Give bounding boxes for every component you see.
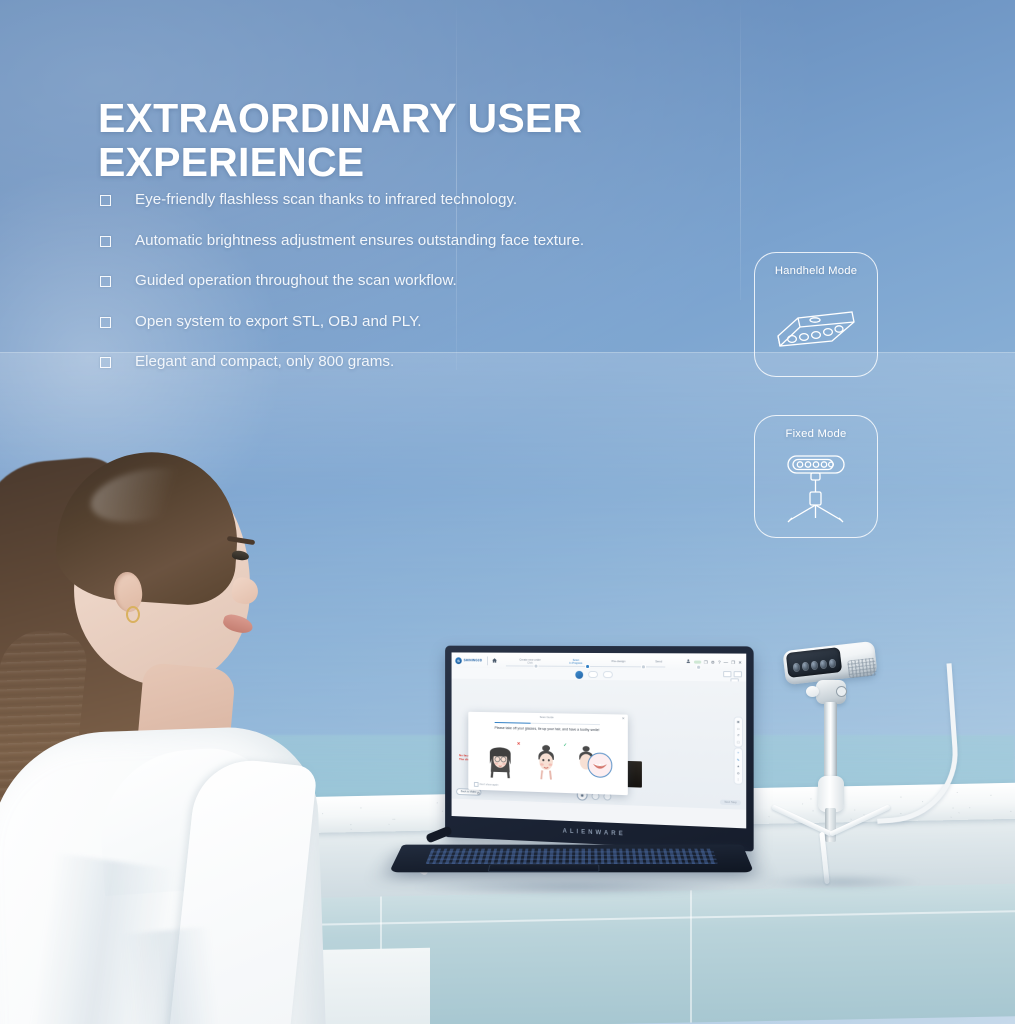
- dont-show-again-checkbox[interactable]: [474, 782, 478, 787]
- app-logo-label: SHINING3D: [464, 658, 483, 662]
- power-cable: [867, 663, 963, 824]
- list-item-label: Automatic brightness adjustment ensures …: [135, 231, 584, 252]
- laptop: S SHINING3D Create new order Click: [390, 646, 760, 906]
- list-item-label: Open system to export STL, OBJ and PLY.: [135, 312, 421, 333]
- maximize-icon[interactable]: ❐: [731, 659, 735, 664]
- step-pre-design[interactable]: Pre-design: [611, 659, 625, 663]
- mini-button[interactable]: [734, 671, 742, 677]
- laptop-lid: S SHINING3D Create new order Click: [445, 646, 754, 852]
- tripod-lock-screw[interactable]: [836, 686, 847, 697]
- feature-list: Eye-friendly flashless scan thanks to in…: [100, 190, 740, 393]
- list-item-label: Eye-friendly flashless scan thanks to in…: [135, 190, 517, 211]
- tripod-adjust-knob[interactable]: [806, 686, 819, 697]
- status-pill: [694, 660, 701, 663]
- window-controls: ❐ ⚙ ? — ❐ ✕: [685, 658, 742, 664]
- screenshot-icon[interactable]: ❐: [704, 659, 708, 664]
- face-with-glasses-illustration: [486, 742, 514, 778]
- bullet-square-icon: [100, 195, 111, 206]
- settings-tool-icon[interactable]: ⚙: [736, 771, 740, 775]
- modal-title: Scan Guide: [468, 714, 628, 721]
- rotate-tool-icon[interactable]: ↺: [736, 733, 740, 737]
- scan-application: S SHINING3D Create new order Click: [452, 652, 747, 828]
- magic-wand-icon[interactable]: ✧: [736, 751, 740, 755]
- close-icon[interactable]: ✕: [738, 659, 742, 664]
- laptop-base: [389, 845, 754, 873]
- usb-connector: [425, 825, 452, 843]
- modal-progress-active: [495, 722, 531, 724]
- gear-icon[interactable]: ⚙: [711, 659, 715, 664]
- step-label: Create new order: [519, 657, 540, 661]
- laptop-shadow: [410, 878, 740, 896]
- page-title: EXTRAORDINARY USER EXPERIENCE: [98, 96, 858, 185]
- toolbar-chip[interactable]: [603, 671, 613, 678]
- list-item: Automatic brightness adjustment ensures …: [100, 231, 740, 252]
- tripod-lower-post: [825, 808, 836, 842]
- workflow-steps: Create new order Click Scan In Progress …: [498, 657, 686, 665]
- fit-tool-icon[interactable]: ☐: [736, 740, 740, 744]
- list-item-label: Elegant and compact, only 800 grams.: [135, 352, 394, 373]
- tripod-shadow: [762, 874, 922, 890]
- dental-professional-photo: [0, 430, 340, 1024]
- settings-gear-icon[interactable]: ⚙: [477, 791, 480, 796]
- scanner-vent-grille: [847, 657, 877, 678]
- guide-panel-tied-hair: ✓: [524, 740, 568, 783]
- mode-card-fixed: Fixed Mode: [754, 415, 878, 538]
- toothy-smile-zoom-illustration: [574, 745, 614, 782]
- app-logo: S SHINING3D: [455, 657, 482, 664]
- bullet-square-icon: [100, 276, 111, 287]
- touchpad[interactable]: [488, 865, 599, 872]
- step-scan[interactable]: Scan In Progress: [569, 657, 582, 664]
- pan-tool-icon[interactable]: □: [736, 726, 740, 730]
- mode-card-handheld: Handheld Mode: [754, 252, 878, 377]
- poster-canvas: EXTRAORDINARY USER EXPERIENCE Eye-friend…: [0, 0, 1015, 1024]
- guide-illustrations: ✕: [478, 739, 618, 785]
- window-mini-controls: [723, 671, 742, 677]
- list-item: Guided operation throughout the scan wor…: [100, 271, 740, 292]
- account-icon[interactable]: [685, 658, 690, 664]
- modal-progress-rest: [531, 723, 600, 725]
- toolbar-chip[interactable]: [588, 671, 598, 678]
- dont-show-again-row[interactable]: Don't show again: [474, 782, 498, 787]
- close-icon[interactable]: ✕: [622, 717, 625, 721]
- more-tool-icon[interactable]: ⋮: [736, 777, 740, 781]
- step-send[interactable]: Send: [655, 659, 662, 663]
- mode-card-label: Handheld Mode: [775, 265, 857, 277]
- alert-tool-icon[interactable]: ▲: [736, 764, 740, 768]
- tripod-scanner-icon: [755, 440, 877, 537]
- handheld-scanner-icon: [755, 277, 877, 376]
- scan-viewport: No face data is ... The distance is ... …: [452, 679, 747, 810]
- step-label: Pre-design: [611, 659, 625, 663]
- help-icon[interactable]: ?: [718, 659, 720, 664]
- tripod-collar: [818, 776, 844, 812]
- keyboard[interactable]: [425, 849, 718, 864]
- step-sublabel: In Progress: [569, 661, 582, 664]
- list-item-label: Guided operation throughout the scan wor…: [135, 271, 457, 292]
- brush-tool-icon[interactable]: ✎: [736, 757, 740, 761]
- step-label: Send: [655, 659, 662, 663]
- face-tied-hair-illustration: [532, 743, 561, 779]
- guide-panel-smile-zoom: [571, 741, 616, 784]
- bullet-square-icon: [100, 236, 111, 247]
- bullet-square-icon: [100, 357, 111, 368]
- earring: [126, 606, 140, 623]
- laptop-screen: S SHINING3D Create new order Click: [452, 652, 747, 828]
- logo-mark-icon: S: [455, 657, 461, 664]
- laptop-brand-label: ALIENWARE: [563, 829, 626, 838]
- accept-mark-icon: ✓: [563, 742, 567, 748]
- mode-card-label: Fixed Mode: [785, 428, 846, 440]
- dont-show-again-label: Don't show again: [480, 783, 499, 787]
- face-scanner-device: [760, 636, 950, 936]
- minimize-icon[interactable]: —: [724, 659, 728, 664]
- modal-message: Please take off your glasses, tie up you…: [495, 726, 612, 734]
- list-item: Eye-friendly flashless scan thanks to in…: [100, 190, 740, 211]
- next-step-button[interactable]: Next Step: [720, 799, 741, 805]
- tool-palette-secondary: ✧ ✎ ▲ ⚙ ⋮: [734, 747, 743, 784]
- reject-mark-icon: ✕: [517, 741, 521, 747]
- avatar: [575, 670, 583, 678]
- mini-button[interactable]: [723, 671, 731, 677]
- scan-guide-modal: Scan Guide ✕ Please take off your glasse…: [468, 712, 628, 795]
- list-item: Elegant and compact, only 800 grams.: [100, 352, 740, 373]
- bullet-square-icon: [100, 317, 111, 328]
- tool-palette-primary: ▣ □ ↺ ☐: [734, 716, 743, 747]
- zoom-tool-icon[interactable]: ▣: [736, 720, 740, 724]
- guide-panel-glasses: ✕: [479, 739, 523, 781]
- list-item: Open system to export STL, OBJ and PLY.: [100, 312, 740, 333]
